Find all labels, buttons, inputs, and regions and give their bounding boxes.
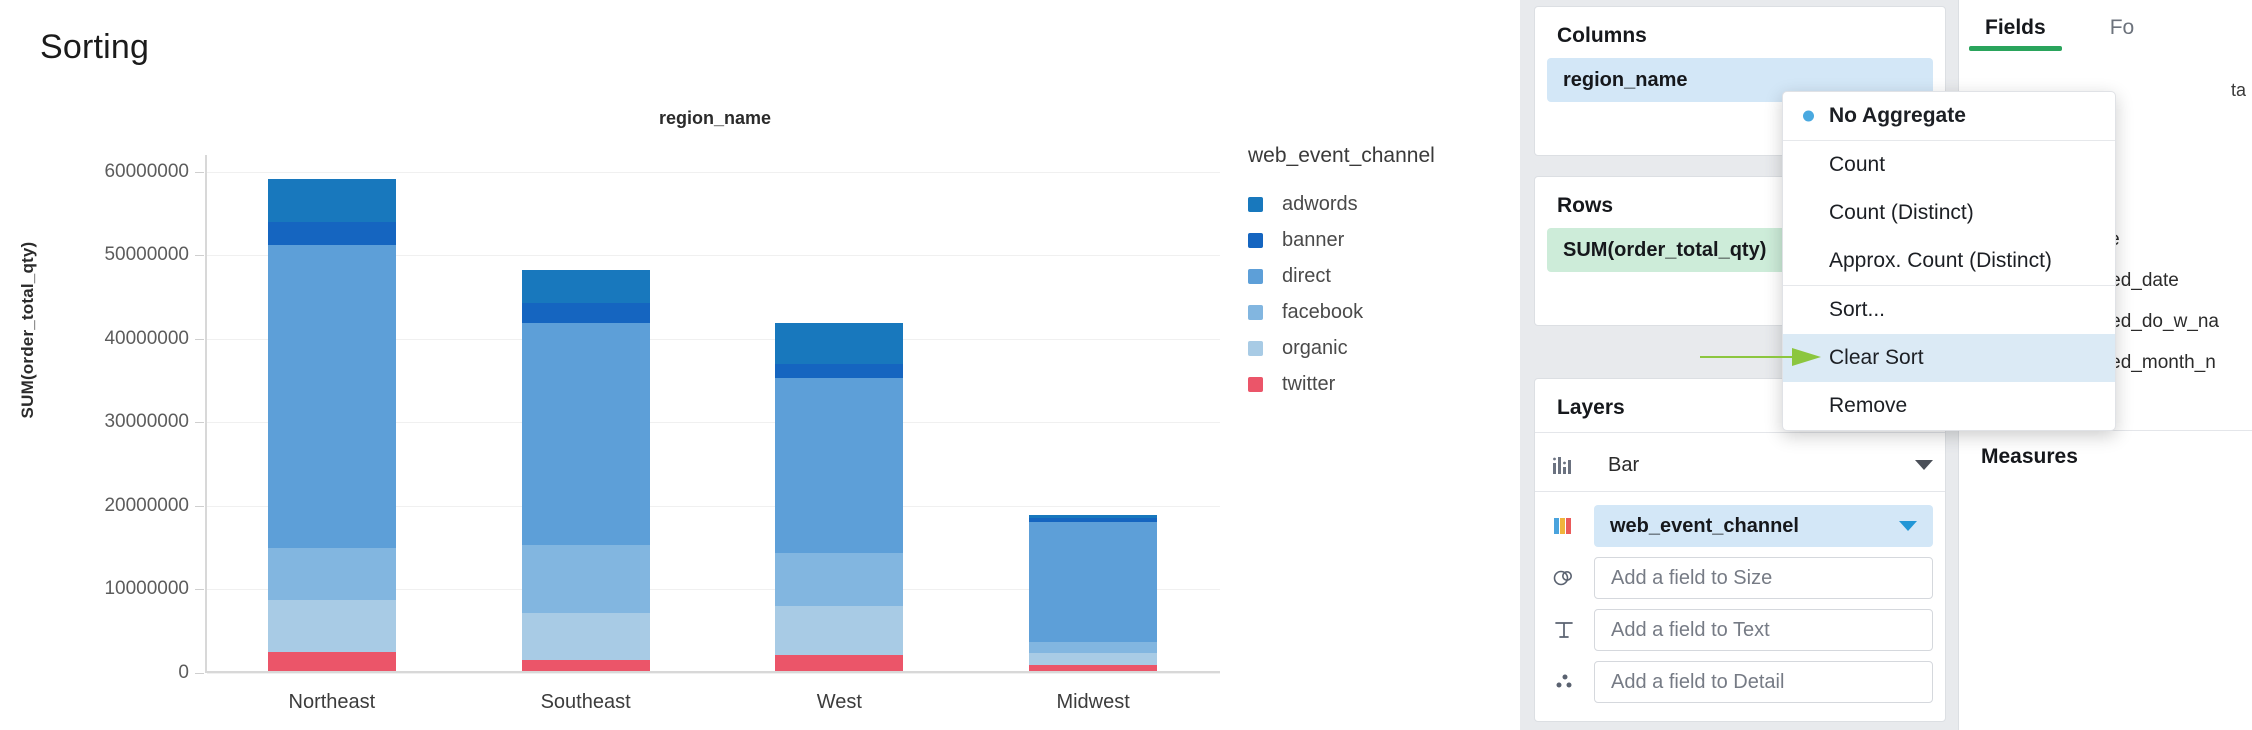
bar-segment-banner[interactable] — [268, 222, 396, 245]
y-tick-label: 60000000 — [104, 161, 189, 183]
legend-title: web_event_channel — [1248, 144, 1435, 168]
stacked-bar[interactable] — [522, 270, 650, 671]
legend-item[interactable]: adwords — [1248, 186, 1435, 222]
legend-swatch — [1248, 305, 1263, 320]
y-tick-label: 20000000 — [104, 495, 189, 517]
x-tick-label: West — [817, 691, 862, 714]
stacked-bar[interactable] — [268, 179, 396, 671]
plot-area: 6000000050000000400000003000000020000000… — [205, 155, 1220, 673]
detail-icon — [1547, 668, 1581, 696]
menu-item-count-distinct[interactable]: Count (Distinct) — [1783, 189, 2115, 237]
bar-segment-direct[interactable] — [522, 323, 650, 545]
color-icon — [1547, 512, 1581, 540]
y-tick-label: 10000000 — [104, 578, 189, 600]
bar-segment-twitter[interactable] — [775, 655, 903, 671]
layer-size-row[interactable]: Add a field to Size — [1535, 552, 1945, 604]
legend-label: adwords — [1282, 193, 1358, 216]
legend-item[interactable]: organic — [1248, 330, 1435, 366]
layer-color-field[interactable]: web_event_channel — [1594, 505, 1933, 547]
y-tick-label: 50000000 — [104, 244, 189, 266]
bar-segment-adwords[interactable] — [522, 270, 650, 303]
bar-slot: Midwest — [966, 155, 1220, 671]
layer-text-row[interactable]: Add a field to Text — [1535, 604, 1945, 656]
stacked-bar[interactable] — [775, 323, 903, 671]
bar-series-group: NortheastSoutheastWestMidwest — [205, 155, 1220, 671]
bar-segment-facebook[interactable] — [522, 545, 650, 614]
page-title: Sorting — [40, 28, 149, 67]
menu-item-remove[interactable]: Remove — [1783, 382, 2115, 430]
divider — [1535, 491, 1945, 492]
bar-segment-facebook[interactable] — [775, 553, 903, 606]
y-tick-label: 30000000 — [104, 411, 189, 433]
y-tick-label: 0 — [178, 662, 189, 684]
x-tick-label: Southeast — [541, 691, 631, 714]
legend-entries: adwordsbannerdirectfacebookorganictwitte… — [1248, 186, 1435, 402]
bar-segment-banner[interactable] — [522, 303, 650, 322]
chevron-down-icon[interactable] — [1915, 460, 1933, 470]
legend-label: banner — [1282, 229, 1344, 252]
y-tick-mark — [195, 422, 204, 423]
legend-label: direct — [1282, 265, 1331, 288]
legend-item[interactable]: facebook — [1248, 294, 1435, 330]
bar-segment-direct[interactable] — [775, 378, 903, 553]
bar-segment-twitter[interactable] — [522, 660, 650, 671]
legend-label: organic — [1282, 337, 1348, 360]
bar-segment-adwords[interactable] — [268, 179, 396, 222]
aggregate-context-menu[interactable]: No AggregateCountCount (Distinct)Approx.… — [1782, 91, 2116, 431]
columns-pill-label: region_name — [1563, 69, 1687, 92]
bar-slot: Northeast — [205, 155, 459, 671]
legend-item[interactable]: direct — [1248, 258, 1435, 294]
annotation-arrow — [1700, 342, 1822, 372]
legend-swatch — [1248, 197, 1263, 212]
stacked-bar[interactable] — [1029, 515, 1157, 671]
legend-swatch — [1248, 269, 1263, 284]
bar-segment-organic[interactable] — [1029, 653, 1157, 665]
app-root: Sorting region_name SUM(order_total_qty)… — [0, 0, 2252, 730]
legend-label: facebook — [1282, 301, 1363, 324]
layer-detail-row[interactable]: Add a field to Detail — [1535, 656, 1945, 708]
gridline — [207, 673, 1220, 674]
menu-item-approx-count-distinct[interactable]: Approx. Count (Distinct) — [1783, 237, 2115, 285]
menu-item-count[interactable]: Count — [1783, 141, 2115, 189]
bar-segment-organic[interactable] — [775, 606, 903, 655]
tab-fields[interactable]: Fields — [1985, 0, 2046, 40]
legend-item[interactable]: twitter — [1248, 366, 1435, 402]
y-tick-mark — [195, 339, 204, 340]
bar-segment-twitter[interactable] — [268, 652, 396, 671]
layer-size-input[interactable]: Add a field to Size — [1594, 557, 1933, 599]
y-tick-mark — [195, 673, 204, 674]
legend-swatch — [1248, 233, 1263, 248]
x-tick-label: Northeast — [289, 691, 376, 714]
y-tick-mark — [195, 255, 204, 256]
bar-slot: Southeast — [459, 155, 713, 671]
layer-mark-type-row[interactable]: Bar — [1535, 439, 1945, 491]
size-icon — [1547, 564, 1581, 592]
bar-segment-banner[interactable] — [775, 364, 903, 377]
menu-item-sort[interactable]: Sort... — [1783, 286, 2115, 334]
y-axis-title: SUM(order_total_qty) — [18, 160, 38, 500]
rows-pill-label: SUM(order_total_qty) — [1563, 239, 1766, 262]
layer-mark-type-label: Bar — [1594, 444, 1902, 486]
layer-text-input[interactable]: Add a field to Text — [1594, 609, 1933, 651]
divider — [1535, 432, 1945, 433]
y-tick-mark — [195, 172, 204, 173]
text-icon — [1547, 616, 1581, 644]
menu-item-no-aggregate[interactable]: No Aggregate — [1783, 92, 2115, 140]
fields-tabs: Fields Fo — [1959, 0, 2252, 74]
bar-segment-direct[interactable] — [268, 245, 396, 548]
bar-segment-facebook[interactable] — [1029, 642, 1157, 654]
bar-slot: West — [713, 155, 967, 671]
bar-chart-icon — [1547, 451, 1581, 479]
y-tick-mark — [195, 506, 204, 507]
layer-detail-input[interactable]: Add a field to Detail — [1594, 661, 1933, 703]
measures-title: Measures — [1959, 431, 2252, 469]
bar-segment-facebook[interactable] — [268, 548, 396, 600]
x-tick-label: Midwest — [1056, 691, 1129, 714]
legend-swatch — [1248, 377, 1263, 392]
bar-segment-organic[interactable] — [522, 613, 650, 660]
y-tick-mark — [195, 589, 204, 590]
legend-label: twitter — [1282, 373, 1335, 396]
y-tick-label: 40000000 — [104, 328, 189, 350]
menu-item-clear-sort[interactable]: Clear Sort — [1783, 334, 2115, 382]
bar-segment-twitter[interactable] — [1029, 665, 1157, 671]
chevron-down-icon[interactable] — [1899, 521, 1917, 531]
layer-color-field-label: web_event_channel — [1610, 515, 1799, 538]
chart-column-header: region_name — [210, 108, 1220, 129]
chart-pane: Sorting region_name SUM(order_total_qty)… — [0, 0, 1520, 730]
layer-color-row[interactable]: web_event_channel — [1535, 500, 1945, 552]
columns-title: Columns — [1535, 7, 1945, 58]
legend-swatch — [1248, 341, 1263, 356]
bar-segment-direct[interactable] — [1029, 522, 1157, 641]
bar-segment-adwords[interactable] — [775, 323, 903, 365]
legend: web_event_channel adwordsbannerdirectfac… — [1248, 144, 1435, 402]
bar-segment-organic[interactable] — [268, 600, 396, 652]
tab-format[interactable]: Fo — [2110, 0, 2135, 40]
legend-item[interactable]: banner — [1248, 222, 1435, 258]
